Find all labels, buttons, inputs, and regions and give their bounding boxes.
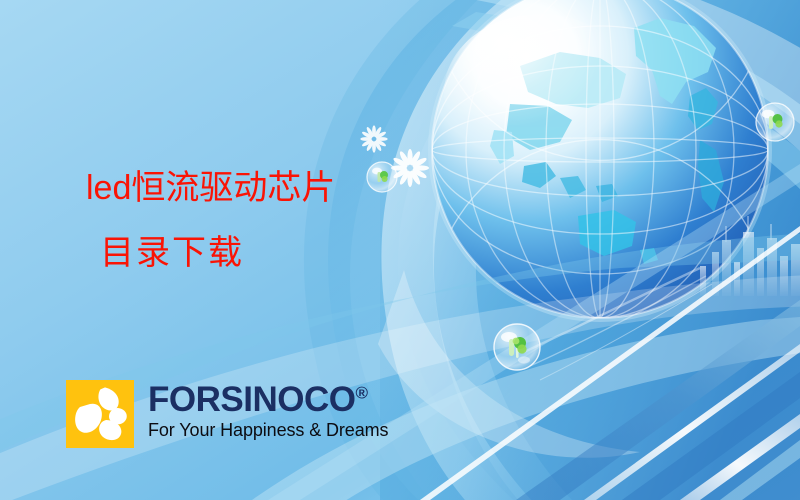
logo-wordmark: FORSINOCO® For Your Happiness & Dreams (148, 380, 388, 440)
pinwheel-bubble-right (756, 103, 794, 141)
headline-block: led恒流驱动芯片 目录下载 (86, 166, 416, 276)
company-logo: FORSINOCO® For Your Happiness & Dreams (66, 380, 388, 448)
brand-tagline: For Your Happiness & Dreams (148, 420, 388, 440)
headline-line-1: led恒流驱动芯片 (86, 166, 416, 210)
pinwheel-petals-icon (66, 380, 134, 448)
promo-banner: led恒流驱动芯片 目录下载 FORSINOCO® (0, 0, 800, 500)
brand-name: FORSINOCO® (148, 382, 388, 418)
forsinoco-pinwheel-mark (66, 380, 134, 448)
headline-line-2: 目录下载 (86, 232, 416, 276)
globe-highlight (444, 14, 636, 170)
registered-trademark-icon: ® (355, 383, 368, 402)
pinwheel-bubble-center (494, 324, 540, 370)
brand-name-text: FORSINOCO (148, 380, 355, 419)
